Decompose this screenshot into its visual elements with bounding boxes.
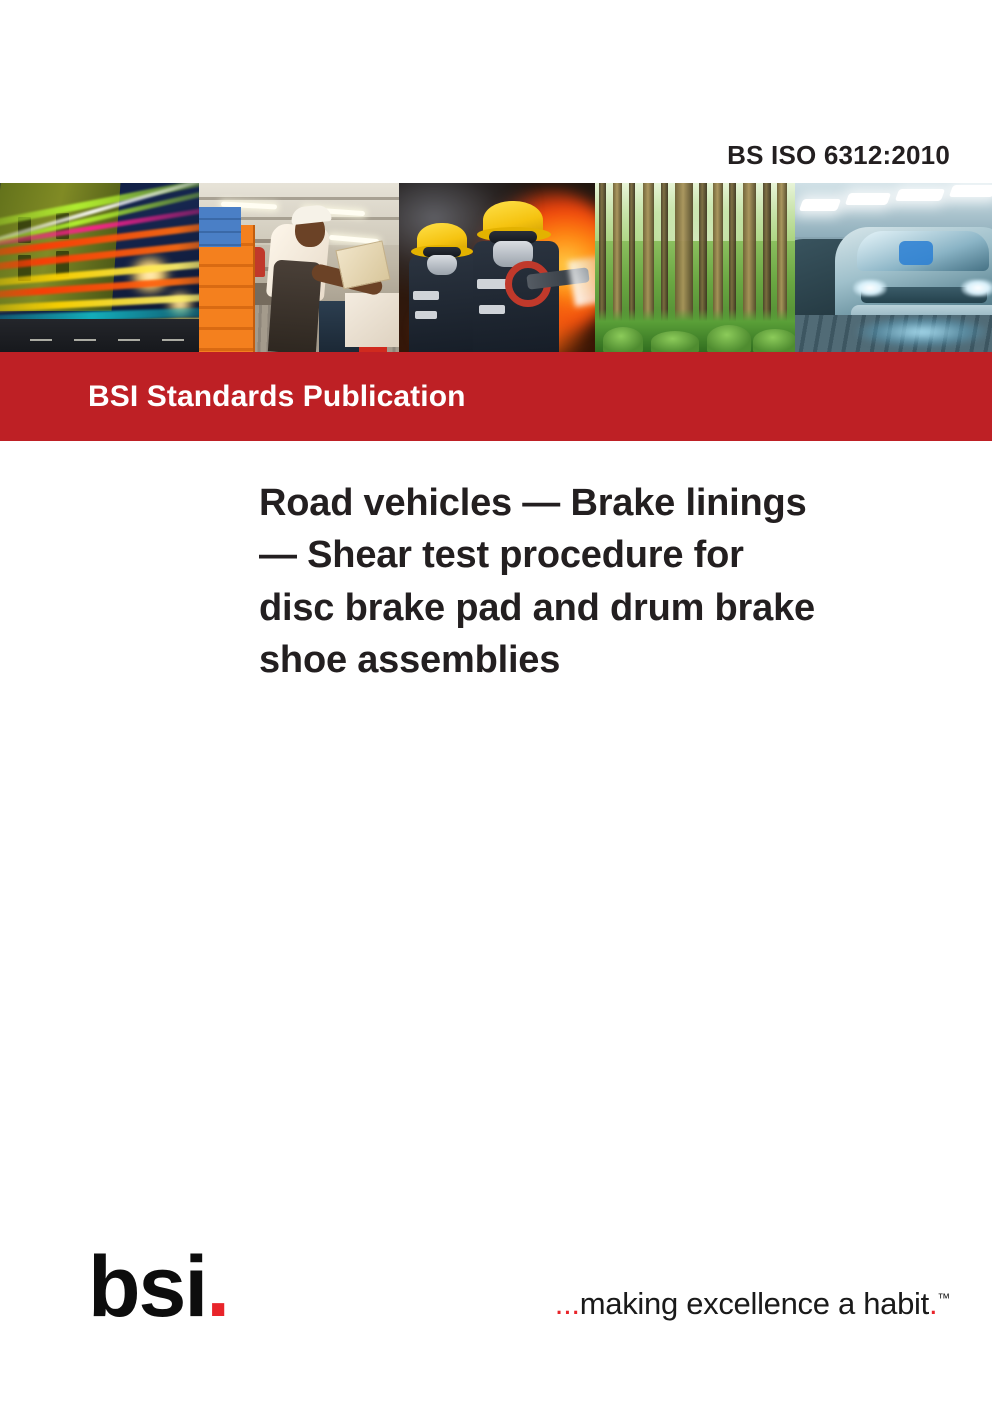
hi-vis-stripe [479, 305, 505, 314]
undergrowth-bush [753, 329, 795, 353]
page-title: Road vehicles — Brake linings — Shear te… [259, 477, 939, 687]
tagline-ellipsis: ... [555, 1286, 580, 1321]
car-headlight [853, 279, 887, 297]
bsi-logo-dot: . [206, 1239, 228, 1335]
banner-label: BSI Standards Publication [88, 380, 466, 414]
lane-marking [118, 339, 140, 341]
standards-publication-banner: BSI Standards Publication [0, 352, 992, 441]
photo-panel-firefighters [399, 183, 595, 353]
hi-vis-stripe [413, 291, 439, 300]
cardboard-box [345, 293, 399, 347]
ceiling-beam [199, 197, 399, 200]
trademark-icon: ™ [937, 1291, 950, 1306]
overhead-light [845, 193, 891, 205]
bsi-tagline: ...making excellence a habit.™ [555, 1286, 950, 1322]
photo-panel-warehouse [199, 183, 399, 353]
document-cover-page: BS ISO 6312:2010 [0, 0, 992, 1403]
hi-vis-stripe [415, 311, 437, 319]
overhead-light [895, 189, 945, 201]
cover-photo-strip [0, 183, 992, 353]
held-box [335, 240, 390, 289]
photo-panel-night-traffic [0, 183, 199, 353]
road-surface [0, 319, 199, 353]
undergrowth-bush [651, 331, 699, 353]
title-line-3: disc brake pad and drum brake [259, 582, 939, 634]
lane-marking [30, 339, 52, 341]
lane-marking [162, 339, 184, 341]
lane-marking [74, 339, 96, 341]
car-headlight [961, 279, 992, 297]
photo-panel-forest [595, 183, 795, 353]
title-line-4: shoe assemblies [259, 634, 939, 686]
bsi-logo: bsi. [88, 1248, 238, 1326]
standard-number: BS ISO 6312:2010 [727, 140, 950, 171]
undergrowth-bush [603, 327, 643, 353]
photo-panel-car-assembly [795, 183, 992, 353]
breathing-mask [427, 255, 457, 275]
bsi-logo-text: bsi [88, 1239, 206, 1335]
title-line-1: Road vehicles — Brake linings [259, 477, 939, 529]
overhead-light [799, 199, 841, 211]
car-seat [899, 241, 933, 265]
hi-vis-stripe [477, 279, 507, 289]
tagline-text: making excellence a habit [580, 1286, 929, 1321]
undergrowth-bush [707, 325, 751, 353]
blue-crate-stack [199, 207, 241, 247]
title-line-2: — Shear test procedure for [259, 529, 939, 581]
floor-reflection [857, 317, 987, 347]
overhead-light [949, 185, 992, 197]
